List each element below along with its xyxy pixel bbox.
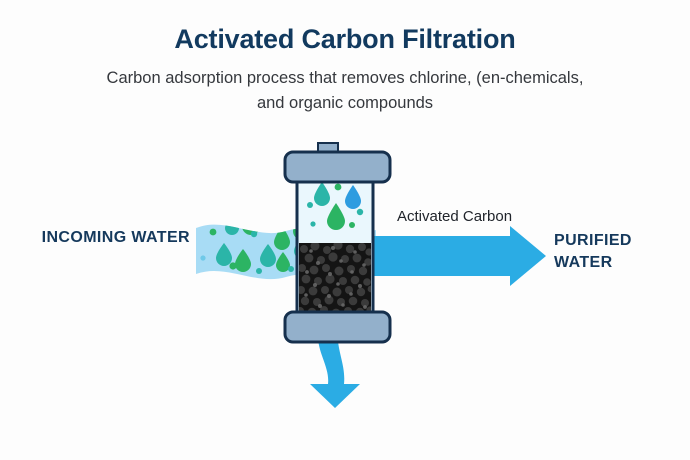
filter-cartridge (296, 168, 374, 322)
bubble-dot (251, 231, 257, 237)
droplet-icon (242, 209, 260, 235)
bubble-dot (310, 221, 315, 226)
label-purified-water: PURIFIED WATER (554, 230, 684, 274)
bubble-dot (269, 227, 274, 232)
carbon-bed (296, 232, 374, 322)
bubble-dot (349, 222, 355, 228)
cartridge-top-cap (285, 152, 390, 182)
outflow-arrow-right (355, 226, 546, 286)
label-activated-carbon: Activated Carbon (397, 207, 512, 227)
bubble-dot (210, 229, 217, 236)
bubble-dot (244, 222, 249, 227)
bubble-dot (357, 209, 363, 215)
label-incoming-water: INCOMING WATER (40, 227, 190, 249)
bubble-dot (256, 268, 262, 274)
bubble-dot (307, 202, 313, 208)
droplet-icon (274, 226, 290, 250)
droplet-icon (225, 215, 239, 235)
cartridge-bottom-cap (285, 312, 390, 342)
bubble-dot (288, 266, 294, 272)
diagram-canvas: Activated Carbon Filtration Carbon adsor… (0, 0, 690, 460)
bubble-dot (335, 184, 342, 191)
bubble-dot (200, 255, 205, 260)
bubble-dot (229, 262, 236, 269)
